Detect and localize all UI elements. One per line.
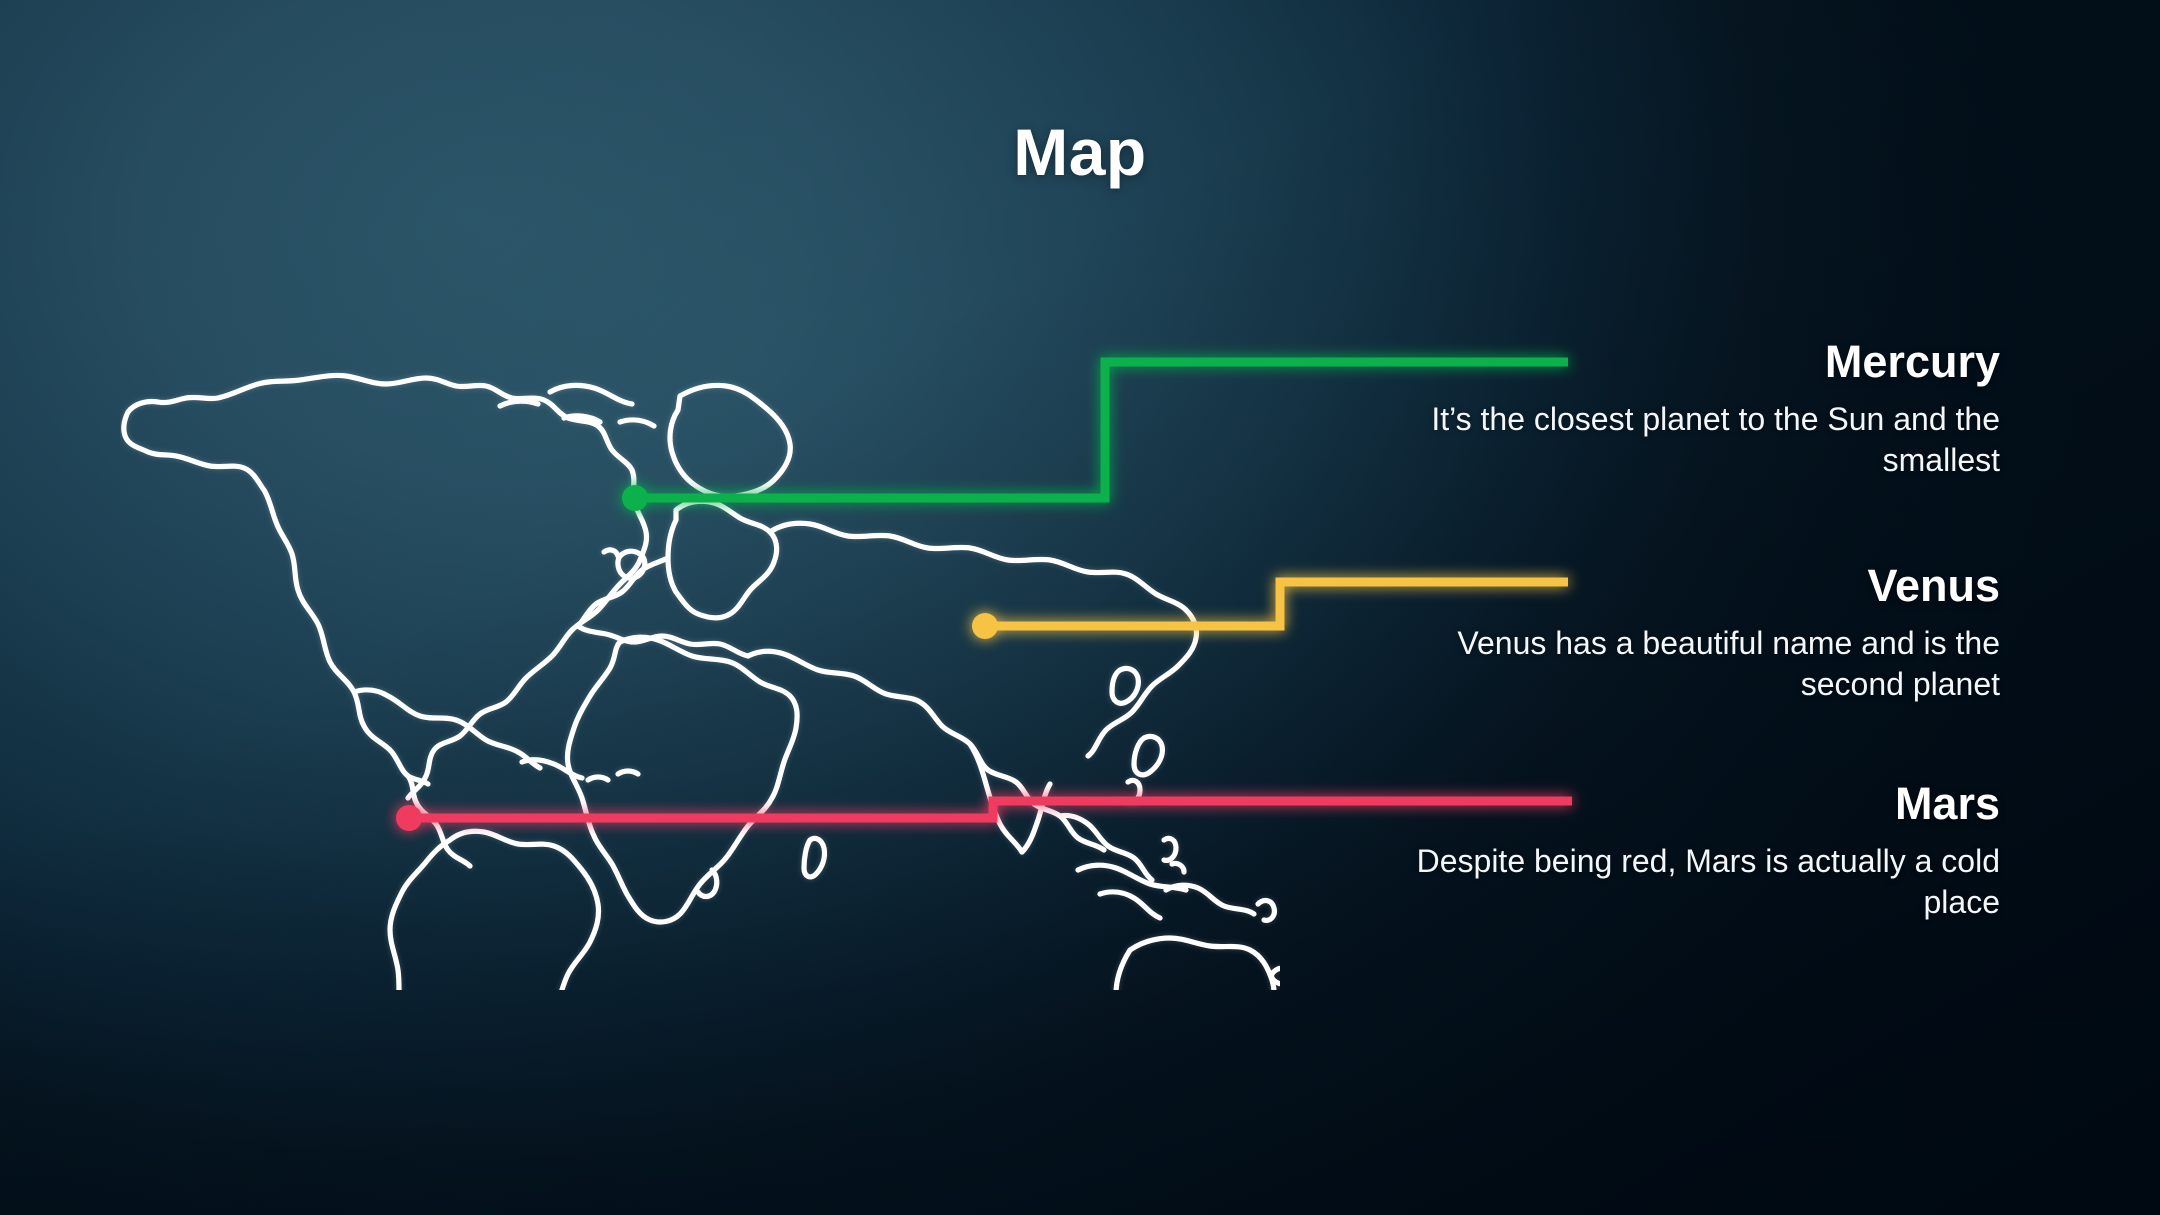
world-map-svg (120, 370, 1280, 990)
slide-root: Map (0, 0, 2160, 1215)
info-panel-venus: Venus Venus has a beautiful name and is … (1360, 562, 2000, 704)
panel-title-mercury: Mercury (1360, 338, 2000, 385)
panel-title-venus: Venus (1360, 562, 2000, 609)
panel-body-venus: Venus has a beautiful name and is the se… (1360, 623, 2000, 704)
world-map (120, 370, 1280, 990)
page-title: Map (0, 118, 2160, 187)
panel-body-mars: Despite being red, Mars is actually a co… (1360, 841, 2000, 922)
panel-body-mercury: It’s the closest planet to the Sun and t… (1360, 399, 2000, 480)
info-panel-mars: Mars Despite being red, Mars is actually… (1360, 780, 2000, 922)
panel-title-mars: Mars (1360, 780, 2000, 827)
world-map-continents (124, 375, 1280, 990)
info-panel-mercury: Mercury It’s the closest planet to the S… (1360, 338, 2000, 480)
